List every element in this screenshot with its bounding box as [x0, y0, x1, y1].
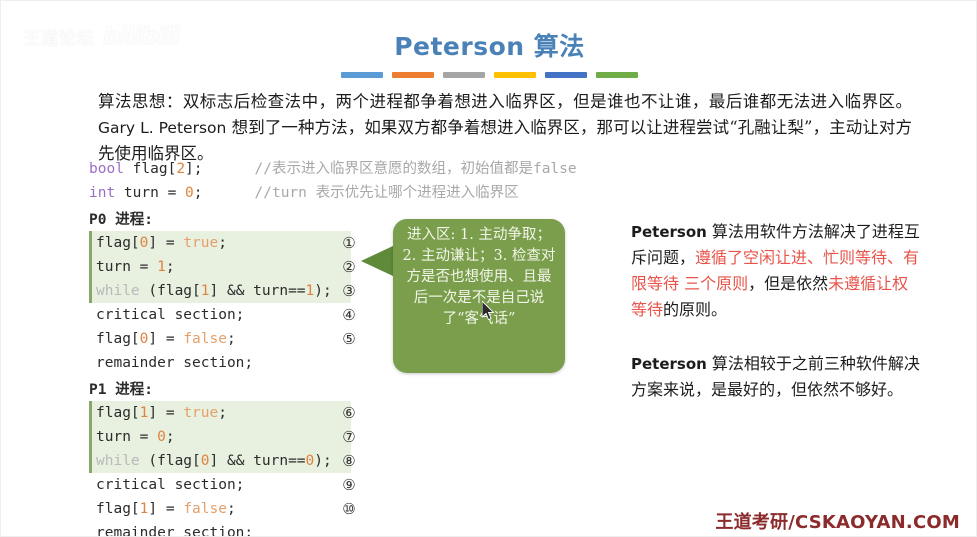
intro-lead-text: 算法思想：双标志后检查法中，两个进程都争着想进入临界区，但是谁也不让谁，最后谁都…: [98, 92, 912, 111]
bar-orange: [392, 72, 434, 78]
process-code-block-0: flag[0] = true;①turn = 1;②while (flag[1]…: [89, 231, 351, 375]
intro-paragraph: 算法思想：双标志后检查法中，两个进程都争着想进入临界区，但是谁也不让谁，最后谁都…: [98, 89, 912, 167]
page-title: Peterson 算法: [1, 27, 977, 63]
code-line-text: critical section;: [96, 477, 244, 493]
paragraph1-name: Peterson: [631, 223, 707, 241]
process-label-1: P1 进程:: [89, 379, 649, 401]
process-code-block-1: flag[1] = true;⑥turn = 0;⑦while (flag[0]…: [89, 401, 351, 537]
code-declaration-body: flag[2];: [124, 157, 203, 181]
title-block: Peterson 算法: [1, 27, 977, 78]
process-label-0: P0 进程:: [89, 209, 649, 231]
code-line-marker: ⑥: [337, 401, 361, 425]
code-line-text: remainder section;: [96, 355, 253, 371]
code-line-marker: ①: [337, 231, 361, 255]
code-line-marker: ⑦: [337, 425, 361, 449]
code-keyword: int: [89, 181, 115, 205]
code-line: remainder section;: [89, 351, 351, 375]
slide-canvas: 王道论坛 bilibili Peterson 算法 算法思想：双标志后检查法中，…: [0, 0, 977, 537]
code-line-text: remainder section;: [96, 525, 253, 537]
code-line: critical section;④: [89, 303, 351, 327]
code-rows: flag[0] = true;①turn = 1;②while (flag[1]…: [89, 231, 351, 375]
code-line: flag[1] = false;⑩: [89, 497, 351, 521]
code-line-text: turn = 0;: [96, 429, 175, 445]
code-line-text: flag[1] = false;: [96, 501, 236, 517]
paragraph1-part2: ，但是依然: [748, 274, 828, 293]
code-declaration-line: int turn = 0;//turn 表示优先让哪个进程进入临界区: [89, 181, 649, 205]
code-line: flag[1] = true;⑥: [89, 401, 351, 425]
intro-author-name: Gary L. Peterson: [98, 119, 226, 137]
bar-dark-blue: [545, 72, 587, 78]
code-line-marker: ④: [337, 303, 361, 327]
code-line-marker: ⑧: [337, 449, 361, 473]
bottom-watermark: 王道考研/CSKAOYAN.COM: [715, 508, 960, 534]
code-comment: //表示进入临界区意愿的数组，初始值都是false: [255, 157, 577, 181]
code-line-text: flag[1] = true;: [96, 405, 227, 421]
code-line-text: while (flag[0] && turn==0);: [96, 453, 332, 469]
code-line-marker: ⑨: [337, 473, 361, 497]
code-line: while (flag[0] && turn==0);⑧: [89, 449, 351, 473]
code-declaration-line: bool flag[2];//表示进入临界区意愿的数组，初始值都是false: [89, 157, 649, 181]
code-line-marker: ⑤: [337, 327, 361, 351]
title-accent-bars: [1, 72, 977, 78]
code-line-text: critical section;: [96, 307, 244, 323]
callout-text: 进入区: 1. 主动争取；2. 主动谦让；3. 检查对方是否也想使用、且最后一次…: [399, 223, 559, 371]
code-line: critical section;⑨: [89, 473, 351, 497]
paragraph1-part3: 的原则。: [663, 300, 727, 319]
paragraph2-name: Peterson: [631, 355, 707, 373]
code-line-marker: ③: [337, 279, 361, 303]
code-line-text: while (flag[1] && turn==1);: [96, 283, 332, 299]
code-line: remainder section;: [89, 521, 351, 537]
code-line-text: turn = 1;: [96, 259, 175, 275]
code-line: while (flag[1] && turn==1);③: [89, 279, 351, 303]
code-declaration-body: turn = 0;: [115, 181, 202, 205]
right-panel-paragraph-1: Peterson 算法用软件方法解决了进程互斥问题，遵循了空闲让进、忙则等待、有…: [631, 219, 923, 323]
code-line-marker: ⑩: [337, 497, 361, 521]
code-line-text: flag[0] = true;: [96, 235, 227, 251]
code-line: flag[0] = true;①: [89, 231, 351, 255]
right-panel-paragraph-2: Peterson 算法相较于之前三种软件解决方案来说，是最好的，但依然不够好。: [631, 351, 923, 403]
code-line: turn = 1;②: [89, 255, 351, 279]
code-comment: //turn 表示优先让哪个进程进入临界区: [255, 181, 519, 205]
code-area: bool flag[2];//表示进入临界区意愿的数组，初始值都是falsein…: [89, 157, 649, 537]
code-rows: flag[1] = true;⑥turn = 0;⑦while (flag[0]…: [89, 401, 351, 537]
bar-light-blue: [341, 72, 383, 78]
bar-green: [596, 72, 638, 78]
code-line-text: flag[0] = false;: [96, 331, 236, 347]
code-line-marker: ②: [337, 255, 361, 279]
bar-gray: [443, 72, 485, 78]
code-line: flag[0] = false;⑤: [89, 327, 351, 351]
right-panel: Peterson 算法用软件方法解决了进程互斥问题，遵循了空闲让进、忙则等待、有…: [631, 219, 923, 431]
code-keyword: bool: [89, 157, 124, 181]
bar-amber: [494, 72, 536, 78]
code-line: turn = 0;⑦: [89, 425, 351, 449]
callout-tail-icon: [361, 245, 395, 277]
